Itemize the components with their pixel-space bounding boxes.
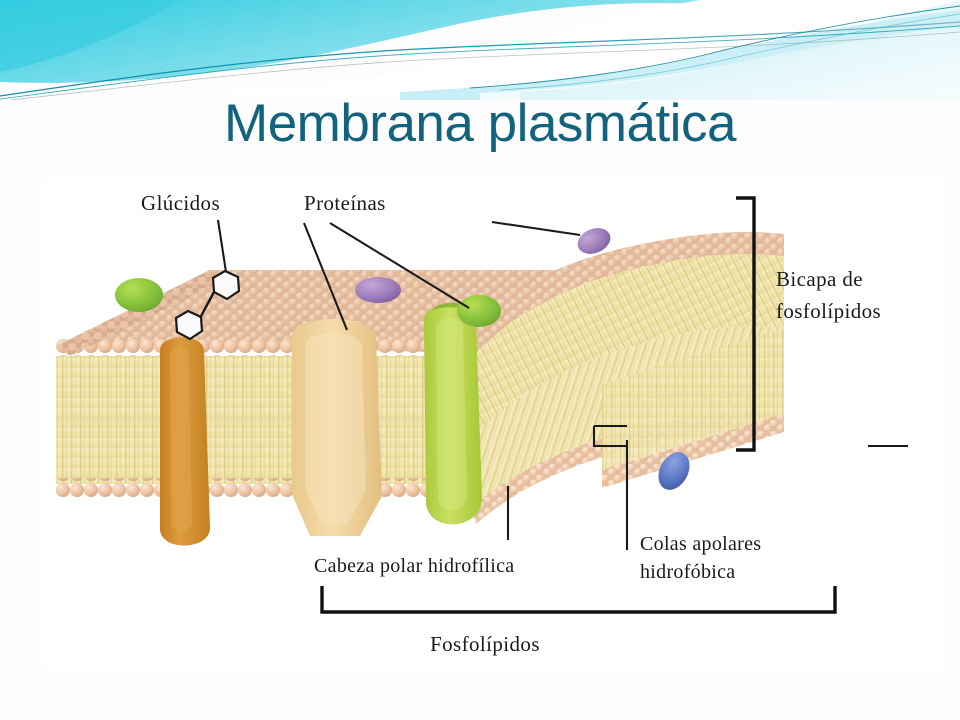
wave-band-primary: [0, 0, 960, 83]
label-cabeza-polar: Cabeza polar hidrofílica: [314, 555, 514, 577]
diagram-panel: Glúcidos Proteínas Bicapa de fosfolípido…: [42, 178, 945, 670]
wave-accent-line-2: [0, 26, 960, 99]
slide-canvas: Membrana plasmática: [0, 0, 960, 720]
glycan-hexagon-lower: [176, 311, 202, 339]
label-glucidos: Glúcidos: [141, 191, 220, 215]
label-colas-line2: hidrofóbica: [640, 561, 736, 583]
integral-protein-green-highlight: [436, 318, 467, 510]
peripheral-protein-green-left: [115, 278, 163, 312]
integral-protein-tan-highlight: [306, 333, 366, 524]
label-fosfolipidos: Fosfolípidos: [430, 632, 540, 656]
peripheral-protein-green-right: [457, 295, 501, 327]
wave-band-secondary: [0, 0, 960, 100]
glycan-hexagon-upper: [213, 271, 239, 299]
wave-wedge-left: [0, 0, 180, 72]
wave-ribbon-right-inner: [480, 26, 960, 100]
label-bicapa-line1: Bicapa de: [776, 267, 863, 291]
wave-ribbon-right-outer: [400, 10, 960, 100]
wave-accent-line-4: [470, 6, 960, 88]
label-proteinas: Proteínas: [304, 191, 386, 215]
integral-protein-orange-highlight: [170, 347, 192, 532]
header-wave-decoration: [0, 0, 960, 100]
wave-accent-line-1: [0, 22, 960, 96]
wave-ribbon-right-tint: [520, 0, 960, 100]
page-title: Membrana plasmática: [0, 96, 960, 152]
membrane-diagram: Glúcidos Proteínas Bicapa de fosfolípido…: [42, 178, 945, 670]
wave-accent-line-3: [10, 32, 960, 100]
wave-accent-line-5: [500, 14, 960, 90]
label-colas-line1: Colas apolares: [640, 533, 761, 555]
peripheral-protein-purple-center: [355, 277, 401, 303]
label-bicapa-line2: fosfolípidos: [776, 299, 881, 323]
